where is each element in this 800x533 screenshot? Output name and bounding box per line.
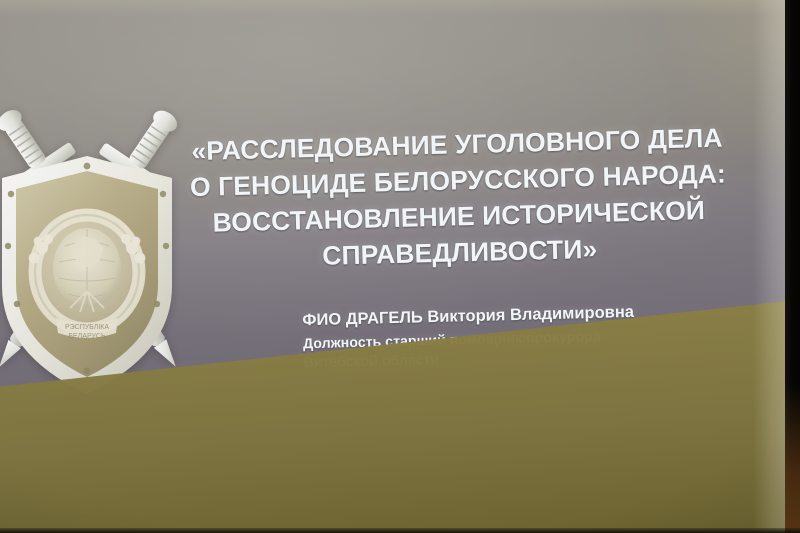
screen-top-glow <box>0 0 787 16</box>
presenter-role: Должность старший помощник прокурора Вит… <box>303 325 724 374</box>
title-line-2: О ГЕНОЦИДЕ БЕЛОРУССКОГО НАРОДА: <box>175 155 742 205</box>
title-line-4: СПРАВЕДЛИВОСТИ» <box>176 227 743 277</box>
presenter-name: ФИО ДРАГЕЛЬ Виктория Владимировна <box>302 299 722 332</box>
presenter-role-line-1: Должность старший помощник прокурора <box>303 325 723 355</box>
prosecutor-office-emblem: РЭСПУБЛIКА БЕЛАРУСЬ <box>0 86 212 416</box>
warm-reflection-right-edge <box>785 383 800 533</box>
screen-right-edge-sheen <box>753 0 787 533</box>
photo-of-projection-screen: РЭСПУБЛIКА БЕЛАРУСЬ «РАССЛЕДОВАНИЕ УГОЛО… <box>0 0 800 533</box>
presenter-role-line-2: Витебской области <box>303 344 723 374</box>
bottom-left-light-wedge <box>0 423 300 533</box>
shield: РЭСПУБЛIКА БЕЛАРУСЬ <box>2 156 172 394</box>
title-line-3: ВОССТАНОВЛЕНИЕ ИСТОРИЧЕСКОЙ <box>175 191 742 241</box>
dark-room-bottom-edge <box>0 528 800 533</box>
dark-room-right-edge <box>785 0 800 533</box>
projection-screen: РЭСПУБЛIКА БЕЛАРУСЬ «РАССЛЕДОВАНИЕ УГОЛО… <box>0 0 787 533</box>
title-line-1: «РАССЛЕДОВАНИЕ УГОЛОВНОГО ДЕЛА <box>174 119 741 169</box>
presenter-block: ФИО ДРАГЕЛЬ Виктория Владимировна Должно… <box>302 299 723 374</box>
svg-text:БЕЛАРУСЬ: БЕЛАРУСЬ <box>68 333 106 340</box>
svg-text:РЭСПУБЛIКА: РЭСПУБЛIКА <box>65 324 109 331</box>
screen-warm-sheen <box>547 0 787 250</box>
slide-title: «РАССЛЕДОВАНИЕ УГОЛОВНОГО ДЕЛА О ГЕНОЦИД… <box>174 119 743 277</box>
